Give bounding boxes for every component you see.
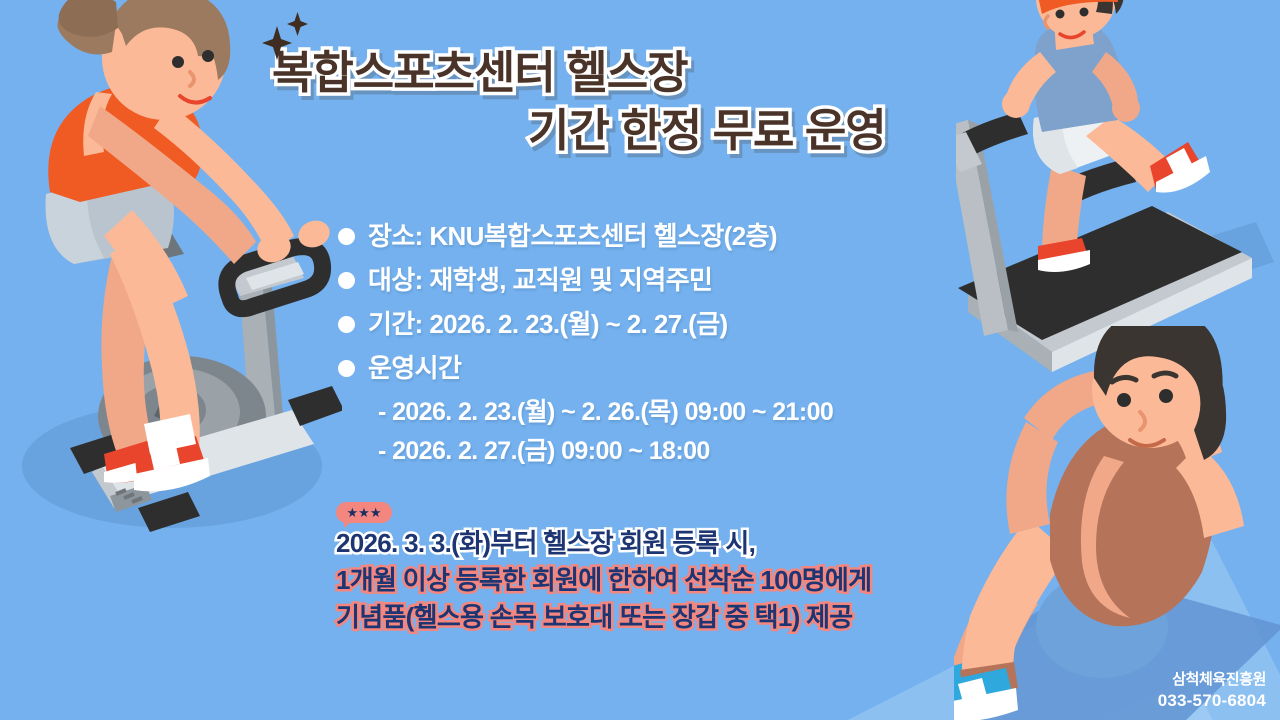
bullet-icon: [338, 228, 355, 245]
info-subitem-label: - 2026. 2. 27.(금) 09:00 ~ 18:00: [378, 433, 710, 471]
poster-canvas: 복합스포츠센터 헬스장 기간 한정 무료 운영 장소: KNU복합스포츠센터 헬…: [0, 0, 1280, 720]
promo-line-1: 2026. 3. 3.(화)부터 헬스장 회원 등록 시,: [336, 525, 871, 562]
info-item-label: 운영시간: [368, 350, 461, 388]
info-subitem-hours-weekday: - 2026. 2. 23.(월) ~ 2. 26.(목) 09:00 ~ 21…: [378, 394, 833, 432]
info-item-label: 대상: 재학생, 교직원 및 지역주민: [368, 262, 712, 300]
poster-title: 복합스포츠센터 헬스장 기간 한정 무료 운영: [0, 44, 960, 159]
promo-line-3: 기념품(헬스용 손목 보호대 또는 장갑 중 택1) 제공: [336, 599, 871, 636]
title-line-1: 복합스포츠센터 헬스장: [0, 44, 960, 102]
footer-phone: 033-570-6804: [1158, 690, 1266, 711]
footer-contact: 삼척체육진흥원 033-570-6804: [1158, 670, 1266, 712]
info-subitem-label: - 2026. 2. 23.(월) ~ 2. 26.(목) 09:00 ~ 21…: [378, 394, 833, 432]
info-list: 장소: KNU복합스포츠센터 헬스장(2층) 대상: 재학생, 교직원 및 지역…: [338, 218, 833, 473]
info-item-location: 장소: KNU복합스포츠센터 헬스장(2층): [338, 218, 833, 256]
footer-organization: 삼척체육진흥원: [1158, 670, 1266, 690]
promo-text-block: 2026. 3. 3.(화)부터 헬스장 회원 등록 시, 1개월 이상 등록한…: [336, 525, 871, 636]
info-item-period: 기간: 2026. 2. 23.(월) ~ 2. 27.(금): [338, 306, 833, 344]
sparkle-icon-small: [287, 12, 308, 36]
illustration-situp-person: [954, 326, 1280, 720]
stars-icon: ★★★: [347, 506, 382, 519]
bullet-icon: [338, 316, 355, 333]
info-item-audience: 대상: 재학생, 교직원 및 지역주민: [338, 262, 833, 300]
bullet-icon: [338, 272, 355, 289]
bullet-icon: [338, 360, 355, 377]
info-item-label: 장소: KNU복합스포츠센터 헬스장(2층): [368, 218, 777, 256]
info-item-label: 기간: 2026. 2. 23.(월) ~ 2. 27.(금): [368, 306, 728, 344]
promo-star-badge: ★★★: [336, 502, 392, 523]
title-line-2: 기간 한정 무료 운영: [0, 102, 960, 160]
promo-line-2: 1개월 이상 등록한 회원에 한하여 선착순 100명에게: [336, 562, 871, 599]
info-item-hours: 운영시간: [338, 350, 833, 388]
info-subitem-hours-friday: - 2026. 2. 27.(금) 09:00 ~ 18:00: [378, 433, 833, 471]
